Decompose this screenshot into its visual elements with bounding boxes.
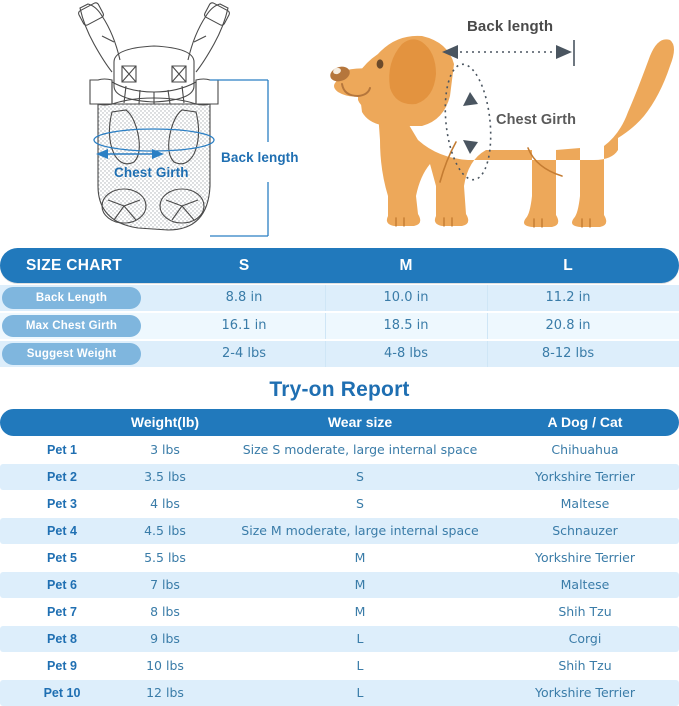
- size-chart-row-suggest-weight: Suggest Weight 2-4 lbs 4-8 lbs 8-12 lbs: [0, 341, 679, 367]
- table-row: Pet 34 lbsSMaltese: [0, 491, 679, 517]
- tryon-cell-wear-size: M: [220, 545, 500, 571]
- tryon-rows-container: Pet 13 lbsSize S moderate, large interna…: [0, 436, 679, 706]
- tryon-cell-weight: 4.5 lbs: [110, 518, 220, 544]
- tryon-cell-pet: Pet 2: [14, 464, 110, 490]
- tryon-cell-pet: Pet 10: [14, 680, 110, 706]
- size-chart-col-s: S: [164, 248, 324, 283]
- table-row: Pet 67 lbsMMaltese: [0, 572, 679, 598]
- tryon-col-pet: [14, 409, 110, 436]
- row-label-max-chest-girth: Max Chest Girth: [2, 315, 141, 337]
- tryon-cell-breed: Chihuahua: [500, 437, 670, 463]
- size-chart-row-max-chest-girth: Max Chest Girth 16.1 in 18.5 in 20.8 in: [0, 313, 679, 339]
- tryon-cell-pet: Pet 3: [14, 491, 110, 517]
- tryon-col-breed: A Dog / Cat: [500, 409, 670, 436]
- tryon-cell-weight: 5.5 lbs: [110, 545, 220, 571]
- size-chart-col-m: M: [326, 248, 486, 283]
- tryon-cell-wear-size: Size S moderate, large internal space: [220, 437, 500, 463]
- table-row: Pet 1012 lbsLYorkshire Terrier: [0, 680, 679, 706]
- tryon-cell-weight: 7 lbs: [110, 572, 220, 598]
- tryon-col-weight: Weight(lb): [110, 409, 220, 436]
- tryon-cell-weight: 3.5 lbs: [110, 464, 220, 490]
- tryon-cell-wear-size: L: [220, 680, 500, 706]
- tryon-report-table: Try-on Report Weight(lb) Wear size A Dog…: [0, 378, 679, 706]
- tryon-cell-breed: Shih Tzu: [500, 599, 670, 625]
- tryon-cell-pet: Pet 7: [14, 599, 110, 625]
- tryon-cell-pet: Pet 9: [14, 653, 110, 679]
- tryon-cell-breed: Shih Tzu: [500, 653, 670, 679]
- table-row: Pet 13 lbsSize S moderate, large interna…: [0, 437, 679, 463]
- dog-back-length-label: Back length: [467, 18, 553, 35]
- dog-chest-girth-label: Chest Girth: [496, 112, 576, 128]
- tryon-cell-wear-size: L: [220, 653, 500, 679]
- max-chest-girth-m: 18.5 in: [326, 313, 486, 339]
- dog-illustration: Back length Chest Girth: [318, 0, 679, 245]
- table-row: Pet 89 lbsLCorgi: [0, 626, 679, 652]
- carrier-illustration: Back length Chest Girth: [58, 0, 323, 240]
- tryon-cell-pet: Pet 1: [14, 437, 110, 463]
- carrier-back-length-label: Back length: [221, 150, 299, 165]
- size-chart-title: SIZE CHART: [26, 248, 176, 283]
- carrier-line-art: [58, 0, 323, 240]
- tryon-cell-wear-size: Size M moderate, large internal space: [220, 518, 500, 544]
- table-row: Pet 78 lbsMShih Tzu: [0, 599, 679, 625]
- max-chest-girth-l: 20.8 in: [488, 313, 648, 339]
- size-chart-col-l: L: [488, 248, 648, 283]
- suggest-weight-s: 2-4 lbs: [164, 341, 324, 367]
- size-chart-row-back-length: Back Length 8.8 in 10.0 in 11.2 in: [0, 285, 679, 311]
- back-length-l: 11.2 in: [488, 285, 648, 311]
- tryon-cell-weight: 4 lbs: [110, 491, 220, 517]
- max-chest-girth-s: 16.1 in: [164, 313, 324, 339]
- carrier-chest-girth-label: Chest Girth: [114, 165, 189, 180]
- tryon-cell-wear-size: M: [220, 599, 500, 625]
- tryon-cell-breed: Yorkshire Terrier: [500, 680, 670, 706]
- suggest-weight-m: 4-8 lbs: [326, 341, 486, 367]
- dog-eye: [377, 59, 384, 68]
- tryon-cell-weight: 9 lbs: [110, 626, 220, 652]
- chest-girth-arrowheads: [463, 92, 478, 154]
- tryon-cell-wear-size: M: [220, 572, 500, 598]
- tryon-cell-weight: 12 lbs: [110, 680, 220, 706]
- tryon-cell-pet: Pet 8: [14, 626, 110, 652]
- tryon-report-title: Try-on Report: [0, 378, 679, 402]
- tryon-cell-pet: Pet 4: [14, 518, 110, 544]
- back-length-m: 10.0 in: [326, 285, 486, 311]
- paw-toes: [396, 218, 590, 227]
- size-chart-header-row: SIZE CHART S M L: [0, 248, 679, 283]
- suggest-weight-l: 8-12 lbs: [488, 341, 648, 367]
- tryon-col-wear-size: Wear size: [220, 409, 500, 436]
- table-row: Pet 44.5 lbsSize M moderate, large inter…: [0, 518, 679, 544]
- illustration-area: Back length Chest Girth: [0, 0, 679, 245]
- table-row: Pet 910 lbsLShih Tzu: [0, 653, 679, 679]
- tryon-cell-breed: Schnauzer: [500, 518, 670, 544]
- back-length-s: 8.8 in: [164, 285, 324, 311]
- tryon-cell-pet: Pet 5: [14, 545, 110, 571]
- tryon-cell-pet: Pet 6: [14, 572, 110, 598]
- row-label-back-length: Back Length: [2, 287, 141, 309]
- tryon-cell-breed: Maltese: [500, 491, 670, 517]
- size-chart-table: SIZE CHART S M L Back Length 8.8 in 10.0…: [0, 248, 679, 367]
- tryon-cell-breed: Yorkshire Terrier: [500, 545, 670, 571]
- tryon-header-row: Weight(lb) Wear size A Dog / Cat: [0, 409, 679, 436]
- tryon-cell-weight: 3 lbs: [110, 437, 220, 463]
- table-row: Pet 55.5 lbsMYorkshire Terrier: [0, 545, 679, 571]
- tryon-cell-wear-size: S: [220, 491, 500, 517]
- row-label-suggest-weight: Suggest Weight: [2, 343, 141, 365]
- tryon-cell-breed: Maltese: [500, 572, 670, 598]
- tryon-cell-weight: 10 lbs: [110, 653, 220, 679]
- tryon-cell-wear-size: S: [220, 464, 500, 490]
- tryon-cell-weight: 8 lbs: [110, 599, 220, 625]
- tryon-cell-wear-size: L: [220, 626, 500, 652]
- back-length-measure: [442, 40, 574, 66]
- tryon-cell-breed: Yorkshire Terrier: [500, 464, 670, 490]
- table-row: Pet 23.5 lbsSYorkshire Terrier: [0, 464, 679, 490]
- tryon-cell-breed: Corgi: [500, 626, 670, 652]
